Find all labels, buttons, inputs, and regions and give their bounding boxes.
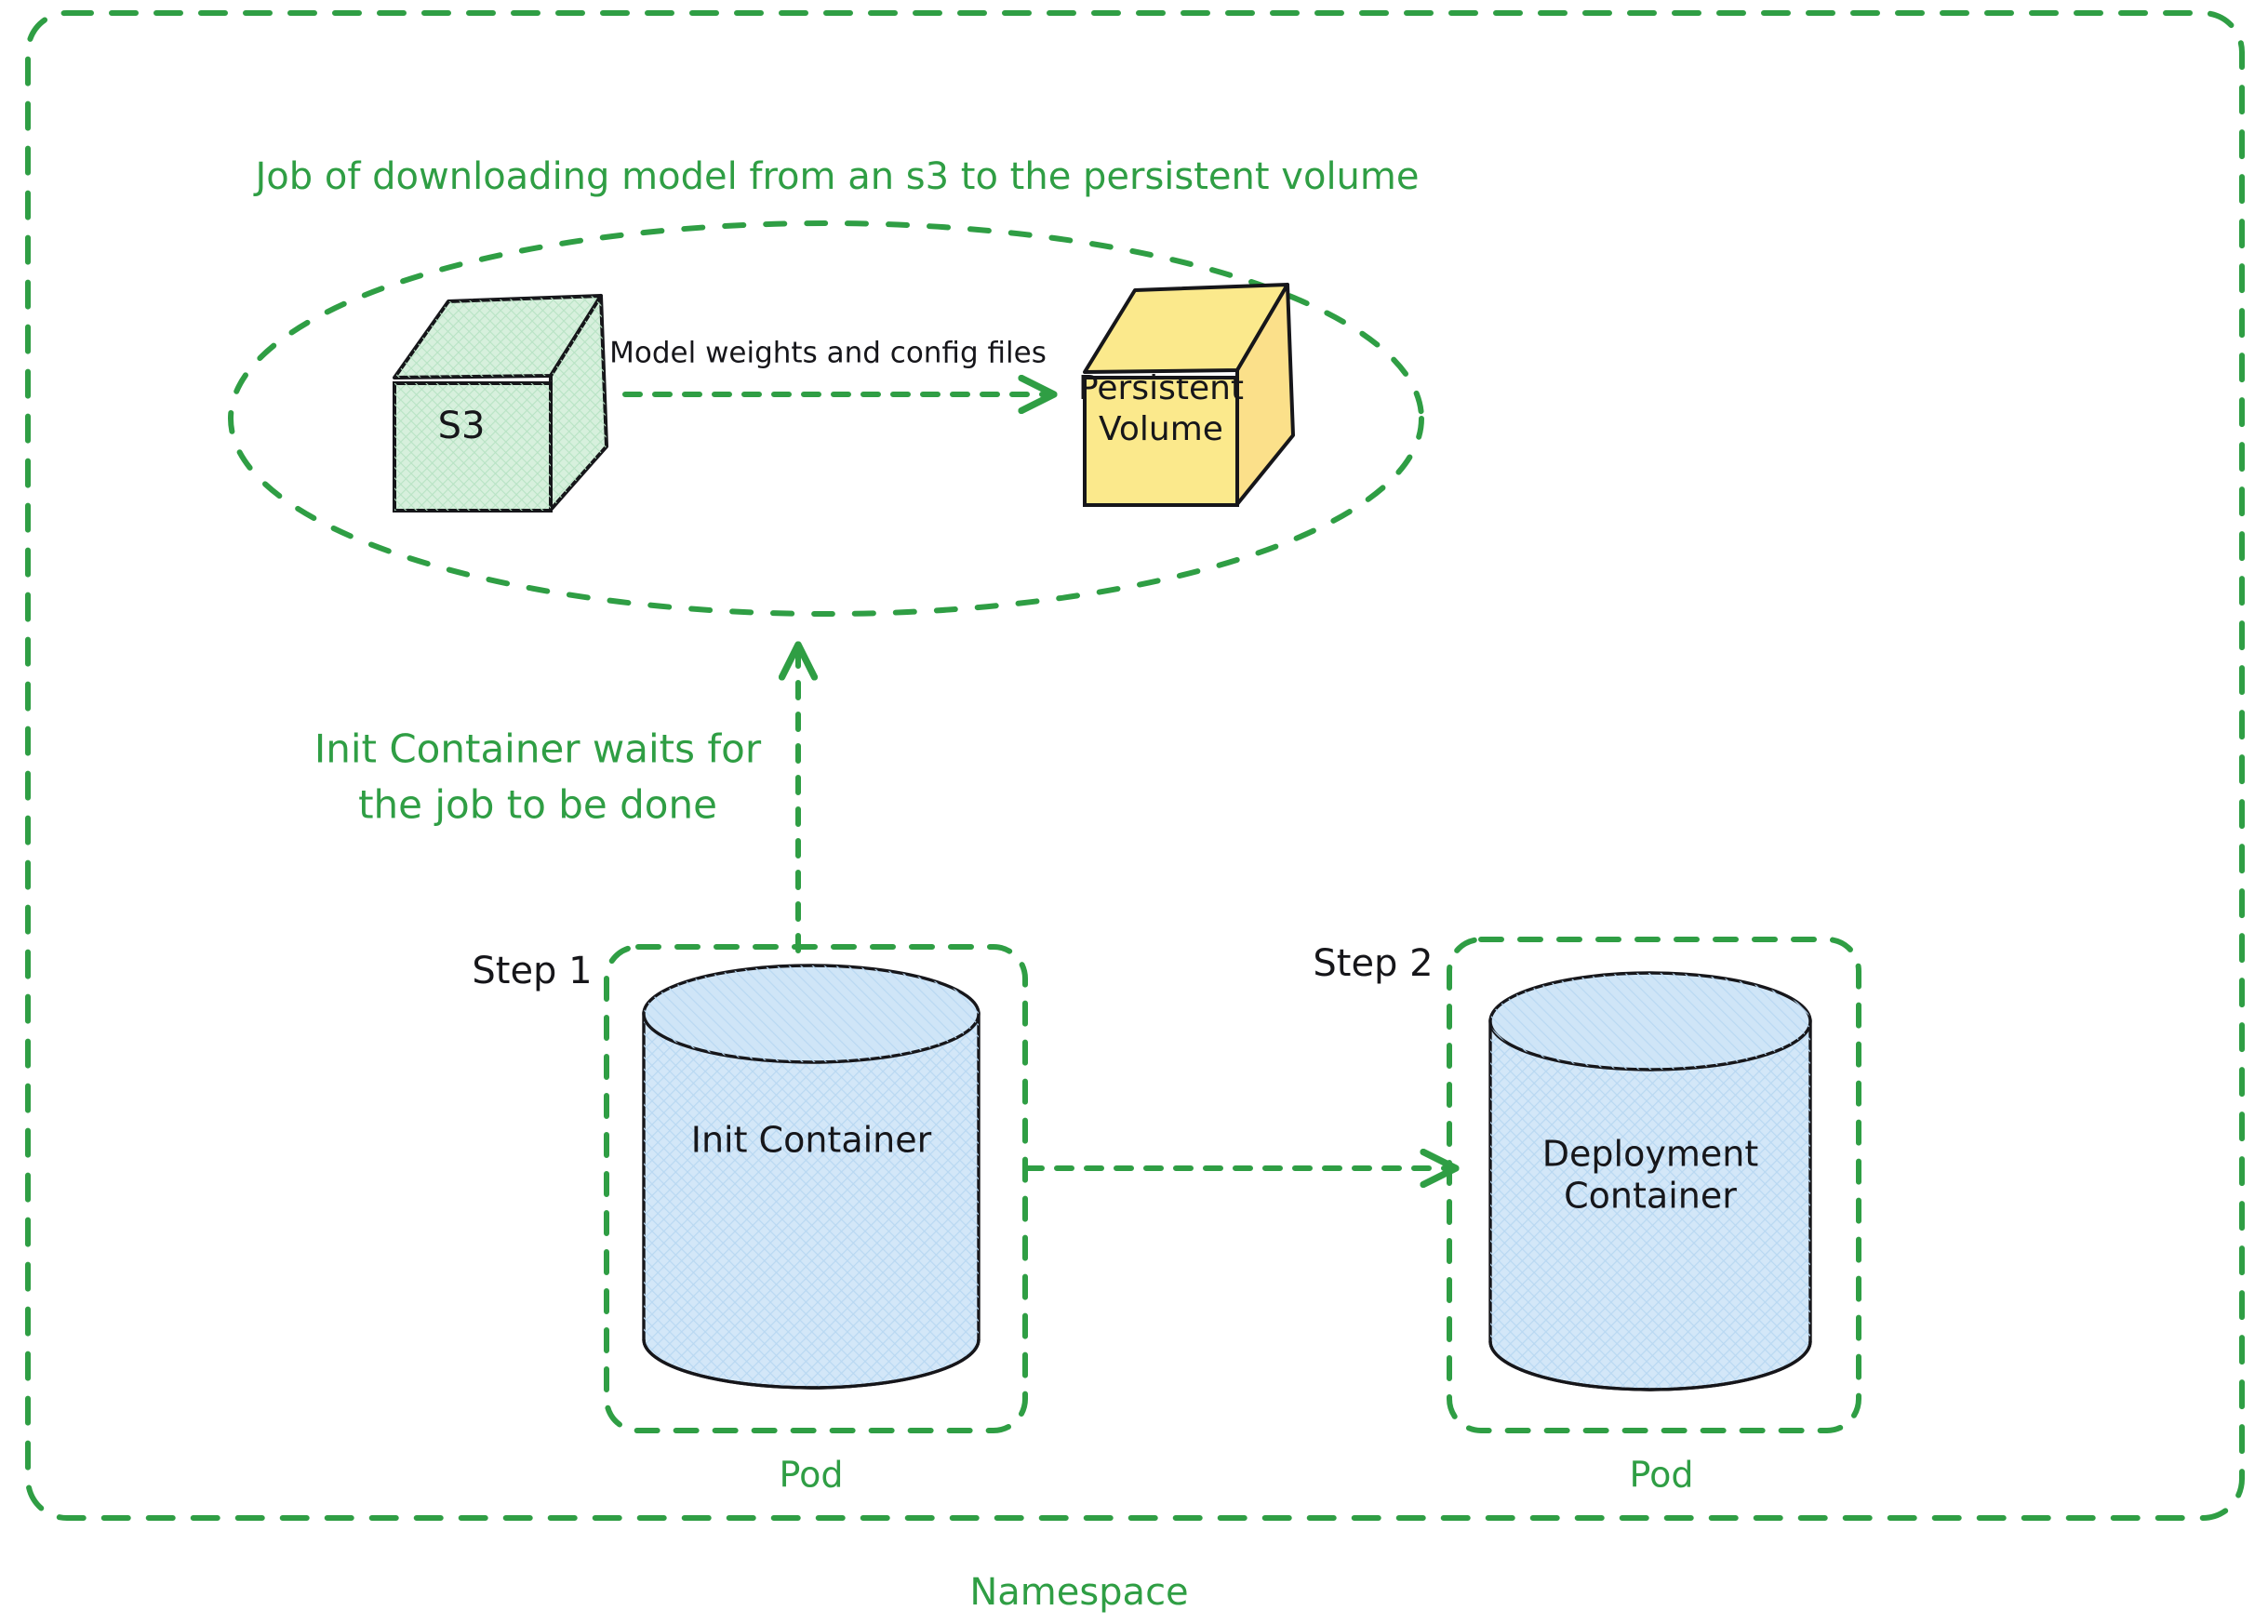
- pod-2-label: Pod: [1630, 1455, 1694, 1496]
- job-group-label: Job of downloading model from an s3 to t…: [253, 155, 1420, 198]
- pv-label-line1: Persistent: [1078, 369, 1244, 407]
- wait-note-line2: the job to be done: [358, 782, 717, 828]
- s3-label: S3: [438, 405, 486, 447]
- kubernetes-model-download-diagram: Namespace Job of downloading model from …: [0, 0, 2268, 1624]
- persistent-volume-node[interactable]: Persistent Volume: [1078, 285, 1293, 505]
- model-transfer-edge: Model weights and config files: [609, 337, 1047, 395]
- pod-2-step-label: Step 2: [1313, 942, 1433, 985]
- namespace-label: Namespace: [969, 1571, 1188, 1614]
- pod-2[interactable]: Step 2 Deployment Container Pod: [1313, 939, 1859, 1496]
- init-container-label: Init Container: [691, 1120, 932, 1161]
- pod-1[interactable]: Step 1 Init Container Pod: [472, 947, 1025, 1496]
- deployment-container-node[interactable]: Deployment Container: [1490, 973, 1810, 1390]
- deployment-container-label-line2: Container: [1564, 1176, 1737, 1217]
- wait-note-line1: Init Container waits for: [314, 726, 762, 772]
- model-transfer-edge-label: Model weights and config files: [609, 337, 1047, 370]
- deployment-container-cylinder-top-hatch: [1490, 973, 1810, 1070]
- diagram-canvas: Namespace Job of downloading model from …: [0, 0, 2268, 1624]
- s3-node[interactable]: S3: [394, 296, 607, 511]
- init-container-cylinder-hatch: [644, 1014, 979, 1388]
- pv-label-line2: Volume: [1099, 410, 1223, 448]
- init-container-wait-note: Init Container waits for the job to be d…: [314, 726, 762, 828]
- pod-1-step-label: Step 1: [472, 950, 592, 992]
- init-container-cylinder-top-hatch: [644, 965, 979, 1062]
- pod-1-label: Pod: [780, 1455, 844, 1496]
- deployment-container-label-line1: Deployment: [1542, 1134, 1758, 1175]
- init-container-node[interactable]: Init Container: [644, 965, 979, 1388]
